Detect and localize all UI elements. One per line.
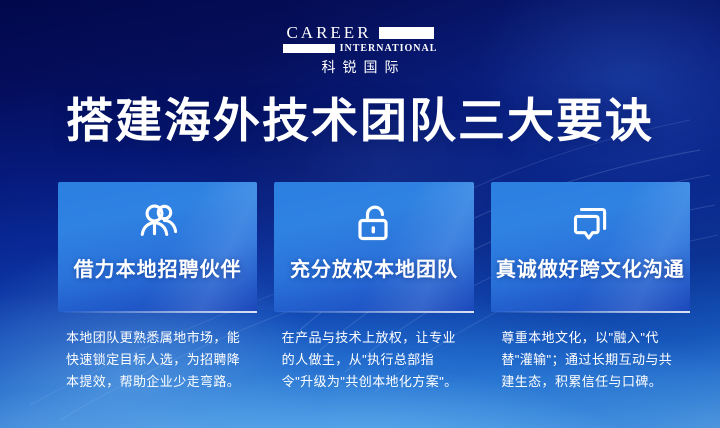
- logo-text-career: CAREER: [286, 24, 371, 41]
- feature-card-heading: 借力本地招聘伙伴: [74, 258, 242, 282]
- feature-card: 充分放权本地团队: [274, 182, 473, 312]
- feature-description: 尊重本地文化，以"融入"代替"灌输"；通过长期互动与共建生态，积累信任与口碑。: [487, 327, 690, 393]
- feature-card-heading: 真诚做好跨文化沟通: [496, 258, 685, 282]
- feature-card-heading: 充分放权本地团队: [290, 258, 458, 282]
- logo-block-left: [283, 44, 335, 53]
- promo-poster: CAREER INTERNATIONAL 科锐国际 搭建海外技术团队三大要诀: [0, 0, 720, 428]
- logo-block-right: [379, 27, 434, 39]
- logo-row-secondary: INTERNATIONAL: [283, 43, 438, 54]
- divider-line: [58, 311, 257, 313]
- page-title: 搭建海外技术团队三大要诀: [0, 92, 720, 150]
- feature-description: 在产品与技术上放权，让专业的人做主，从"执行总部指令"升级为"共创本地化方案"。: [272, 327, 471, 393]
- unlocked-padlock-icon: [351, 200, 397, 246]
- logo-row-primary: CAREER: [286, 24, 433, 41]
- chat-bubbles-icon: [567, 200, 613, 246]
- logo-text-chinese: 科锐国际: [315, 60, 406, 75]
- divider-line: [491, 311, 690, 313]
- card-divider-row: [58, 311, 690, 313]
- divider-line: [274, 311, 473, 313]
- feature-description: 本地团队更熟悉属地市场，能快速锁定目标人选，为招聘降本提效，帮助企业少走弯路。: [58, 327, 255, 393]
- feature-card-list: 借力本地招聘伙伴 充分放权本地团队: [58, 182, 690, 312]
- logo-text-international: INTERNATIONAL: [340, 44, 438, 54]
- two-people-icon: [135, 200, 181, 246]
- brand-logo: CAREER INTERNATIONAL 科锐国际: [0, 24, 720, 75]
- feature-card: 借力本地招聘伙伴: [58, 182, 257, 312]
- feature-card: 真诚做好跨文化沟通: [491, 182, 690, 312]
- feature-description-row: 本地团队更熟悉属地市场，能快速锁定目标人选，为招聘降本提效，帮助企业少走弯路。 …: [58, 327, 690, 393]
